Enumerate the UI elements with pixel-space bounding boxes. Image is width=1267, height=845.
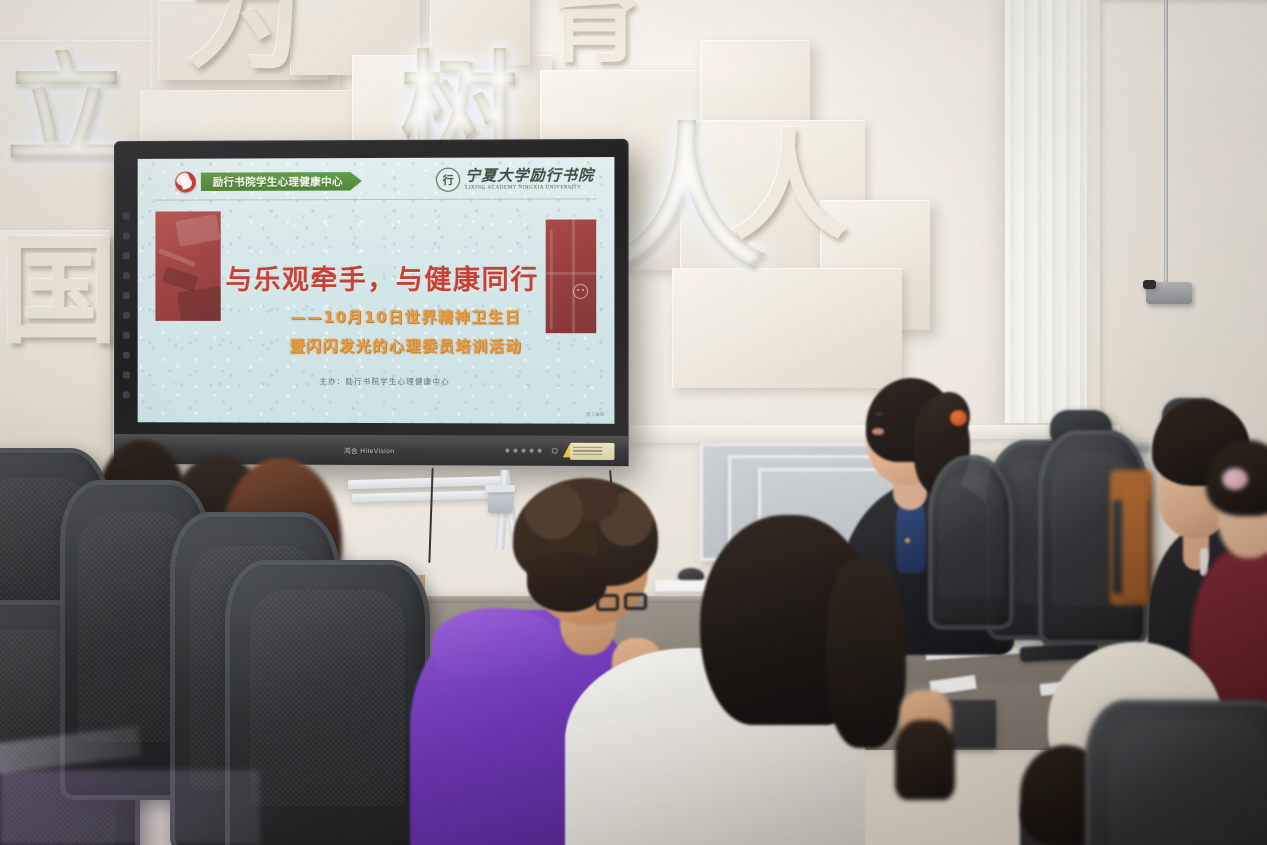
wall-character-wei: 为 [185, 0, 303, 76]
university-seal-icon: 行 [436, 168, 460, 192]
window-curtain [1005, 0, 1087, 423]
glasses-lens [596, 594, 619, 611]
bracket-clamp [1143, 280, 1156, 289]
control-dot[interactable] [522, 449, 526, 453]
spec-label [570, 442, 615, 459]
bezel-icon-settings[interactable] [122, 332, 129, 339]
bezel-icon-power[interactable] [122, 372, 129, 379]
attendee-hair-side [527, 552, 607, 612]
bezel-icon-source[interactable] [122, 391, 129, 398]
presenter-eye [875, 412, 884, 416]
stand-shelf-plate [485, 485, 515, 492]
wall-character-guo: 国 [0, 232, 118, 350]
slide-banner: 励行书院学生心理健康中心 [175, 171, 362, 192]
banner-chevron: 励行书院学生心理健康中心 [201, 172, 362, 191]
bezel-icon-menu[interactable] [122, 232, 129, 239]
bezel-icon-home[interactable] [122, 252, 129, 259]
attendee-hair-strand [826, 558, 906, 748]
glasses-lens [624, 593, 647, 610]
hair-flower-clip [1222, 468, 1248, 490]
slide-title: 与乐观牵手，与健康同行 [138, 258, 615, 297]
control-dot[interactable] [530, 449, 534, 453]
display-control-bar[interactable]: 鸿合 HiteVision [114, 434, 629, 466]
seal-glyph: 行 [443, 174, 454, 185]
slide-subtitle-line1: ——10月10日世界精神卫生日 [199, 306, 615, 327]
bezel-icon-pen[interactable] [122, 292, 129, 299]
bezel-icon-eraser[interactable] [122, 312, 129, 319]
attendee-hair-foreground [895, 720, 955, 800]
ceiling-pole [1164, 0, 1168, 286]
wall-character-yu: 育 [545, 0, 643, 68]
display-brand-label: 鸿合 HiteVision [344, 445, 394, 455]
bezel-icon-volume[interactable] [122, 352, 129, 359]
table-reflection [0, 770, 260, 845]
interactive-flat-panel-display[interactable]: 励行书院学生心理健康中心 行 宁夏大学励行书院 LIXING ACADEMY N… [114, 139, 629, 466]
right-wall-panel [1100, 0, 1267, 440]
center-logo-icon [175, 171, 196, 192]
bezel-icon-star[interactable] [122, 213, 129, 220]
photo-object [175, 214, 220, 247]
banner-text: 励行书院学生心理健康中心 [213, 174, 343, 189]
office-chair[interactable] [928, 455, 1014, 630]
chair-rim [1085, 700, 1267, 845]
hair-scrunchie [950, 410, 967, 426]
presenter-button [905, 538, 910, 543]
bezel-icon-strip[interactable] [119, 213, 133, 399]
wooden-chair[interactable] [1122, 482, 1148, 600]
university-logo: 行 宁夏大学励行书院 LIXING ACADEMY NINGXIA UNIVER… [436, 167, 594, 192]
chair-rim [928, 455, 1014, 630]
university-name-en: LIXING ACADEMY NINGXIA UNIVERSITY [465, 185, 594, 191]
presenter-mouth [872, 428, 884, 435]
stand-equipment-box [488, 493, 512, 513]
control-dot[interactable] [505, 449, 509, 453]
control-dot[interactable] [538, 449, 542, 453]
slide-subtitle-line2: 暨闪闪发光的心理委员培训活动 [199, 335, 615, 357]
office-chair[interactable] [1085, 700, 1267, 845]
photo-scene: 立 为 树 育 国 人 人 [0, 0, 1267, 845]
slide-subtitle-block: ——10月10日世界精神卫生日 暨闪闪发光的心理委员培训活动 [138, 306, 615, 356]
wall-character-ren-relief: 人 [730, 128, 848, 246]
display-screen[interactable]: 励行书院学生心理健康中心 行 宁夏大学励行书院 LIXING ACADEMY N… [138, 157, 615, 424]
slide-watermark: 图文编辑 [587, 412, 605, 418]
bezel-icon-back[interactable] [122, 272, 129, 279]
hoodie-hood [432, 608, 562, 678]
slide-host-line: 主办：励行书院学生心理健康中心 [138, 376, 615, 388]
power-button[interactable] [552, 448, 558, 454]
control-dot[interactable] [513, 449, 517, 453]
university-name-cn: 宁夏大学励行书院 [465, 168, 594, 184]
wall-character-li: 立 [6, 50, 126, 170]
control-buttons[interactable] [505, 449, 541, 453]
